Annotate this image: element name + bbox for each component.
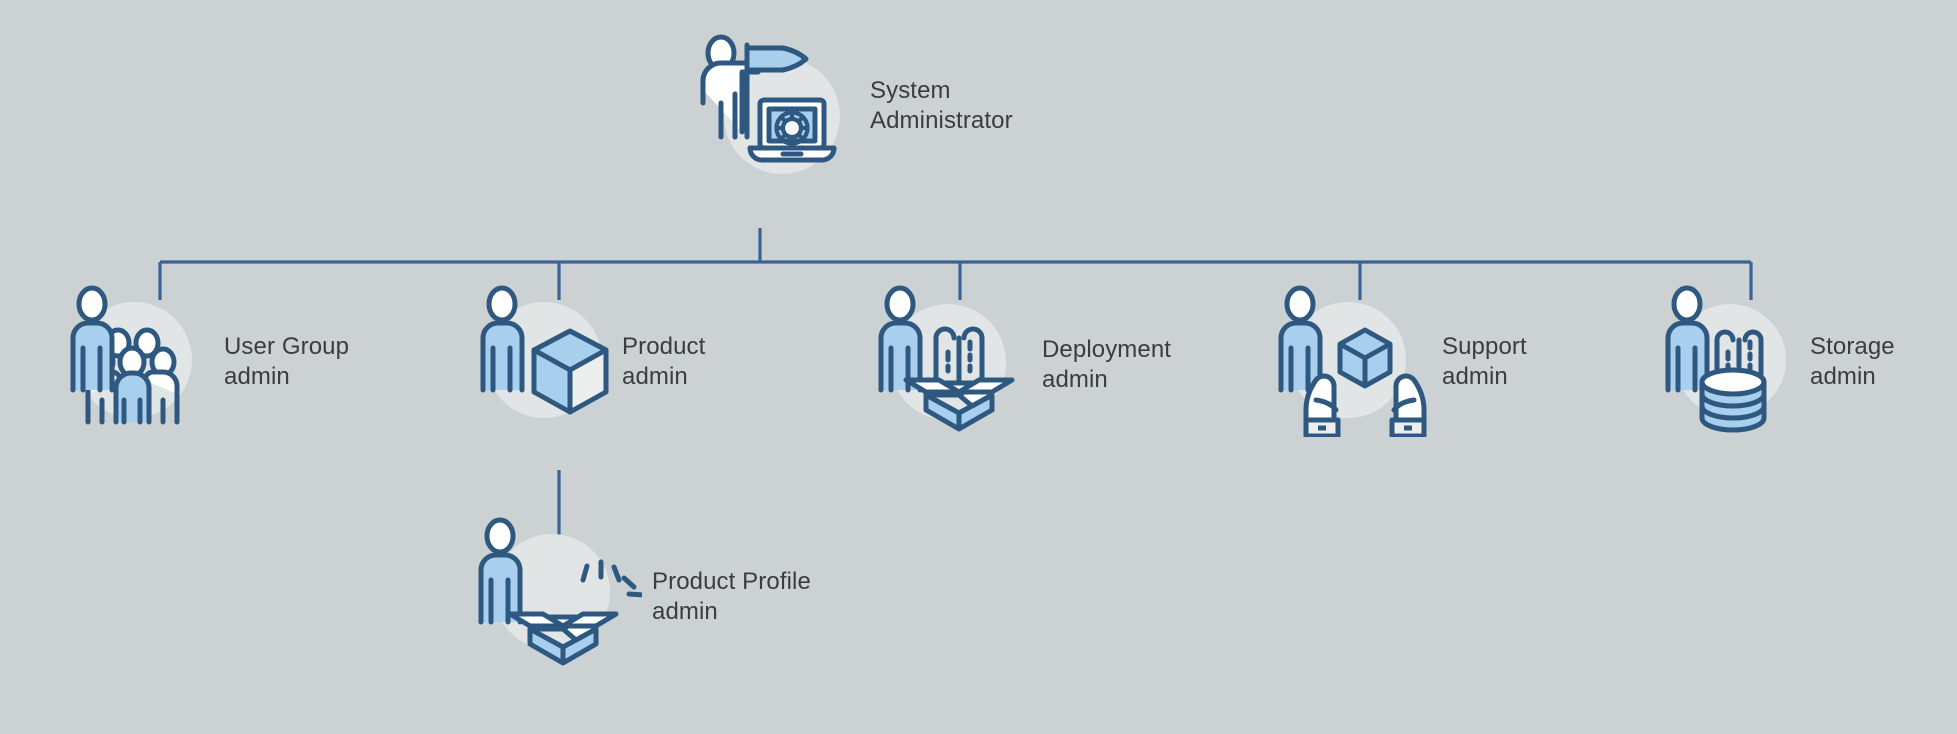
node-user-group-admin[interactable]: User Group admin	[62, 282, 349, 442]
person-with-open-box-sparkle-icon	[472, 514, 642, 679]
person-with-flag-and-laptop-gear-icon	[690, 28, 860, 183]
person-with-open-box-streams-icon	[870, 282, 1032, 447]
node-label-user-group-admin: User Group admin	[224, 332, 349, 392]
node-system-administrator[interactable]: System Administrator	[690, 28, 1013, 183]
node-label-support-admin: Support admin	[1442, 332, 1527, 392]
node-storage-admin[interactable]: Storage admin	[1660, 282, 1895, 442]
diagram-canvas: System Administrator	[0, 0, 1957, 734]
node-product-profile-admin[interactable]: Product Profile admin	[472, 514, 811, 679]
person-with-hands-holding-cube-icon	[1272, 282, 1432, 442]
node-support-admin[interactable]: Support admin	[1272, 282, 1527, 442]
person-with-database-streams-icon	[1660, 282, 1800, 442]
node-label-product-admin: Product admin	[622, 332, 705, 392]
node-product-admin[interactable]: Product admin	[472, 282, 705, 442]
node-label-system-administrator: System Administrator	[870, 76, 1013, 136]
person-with-user-group-icon	[62, 282, 214, 442]
node-label-storage-admin: Storage admin	[1810, 332, 1895, 392]
node-deployment-admin[interactable]: Deployment admin	[870, 282, 1171, 447]
person-with-cube-icon	[472, 282, 612, 442]
node-label-product-profile-admin: Product Profile admin	[652, 567, 811, 627]
node-label-deployment-admin: Deployment admin	[1042, 335, 1171, 395]
